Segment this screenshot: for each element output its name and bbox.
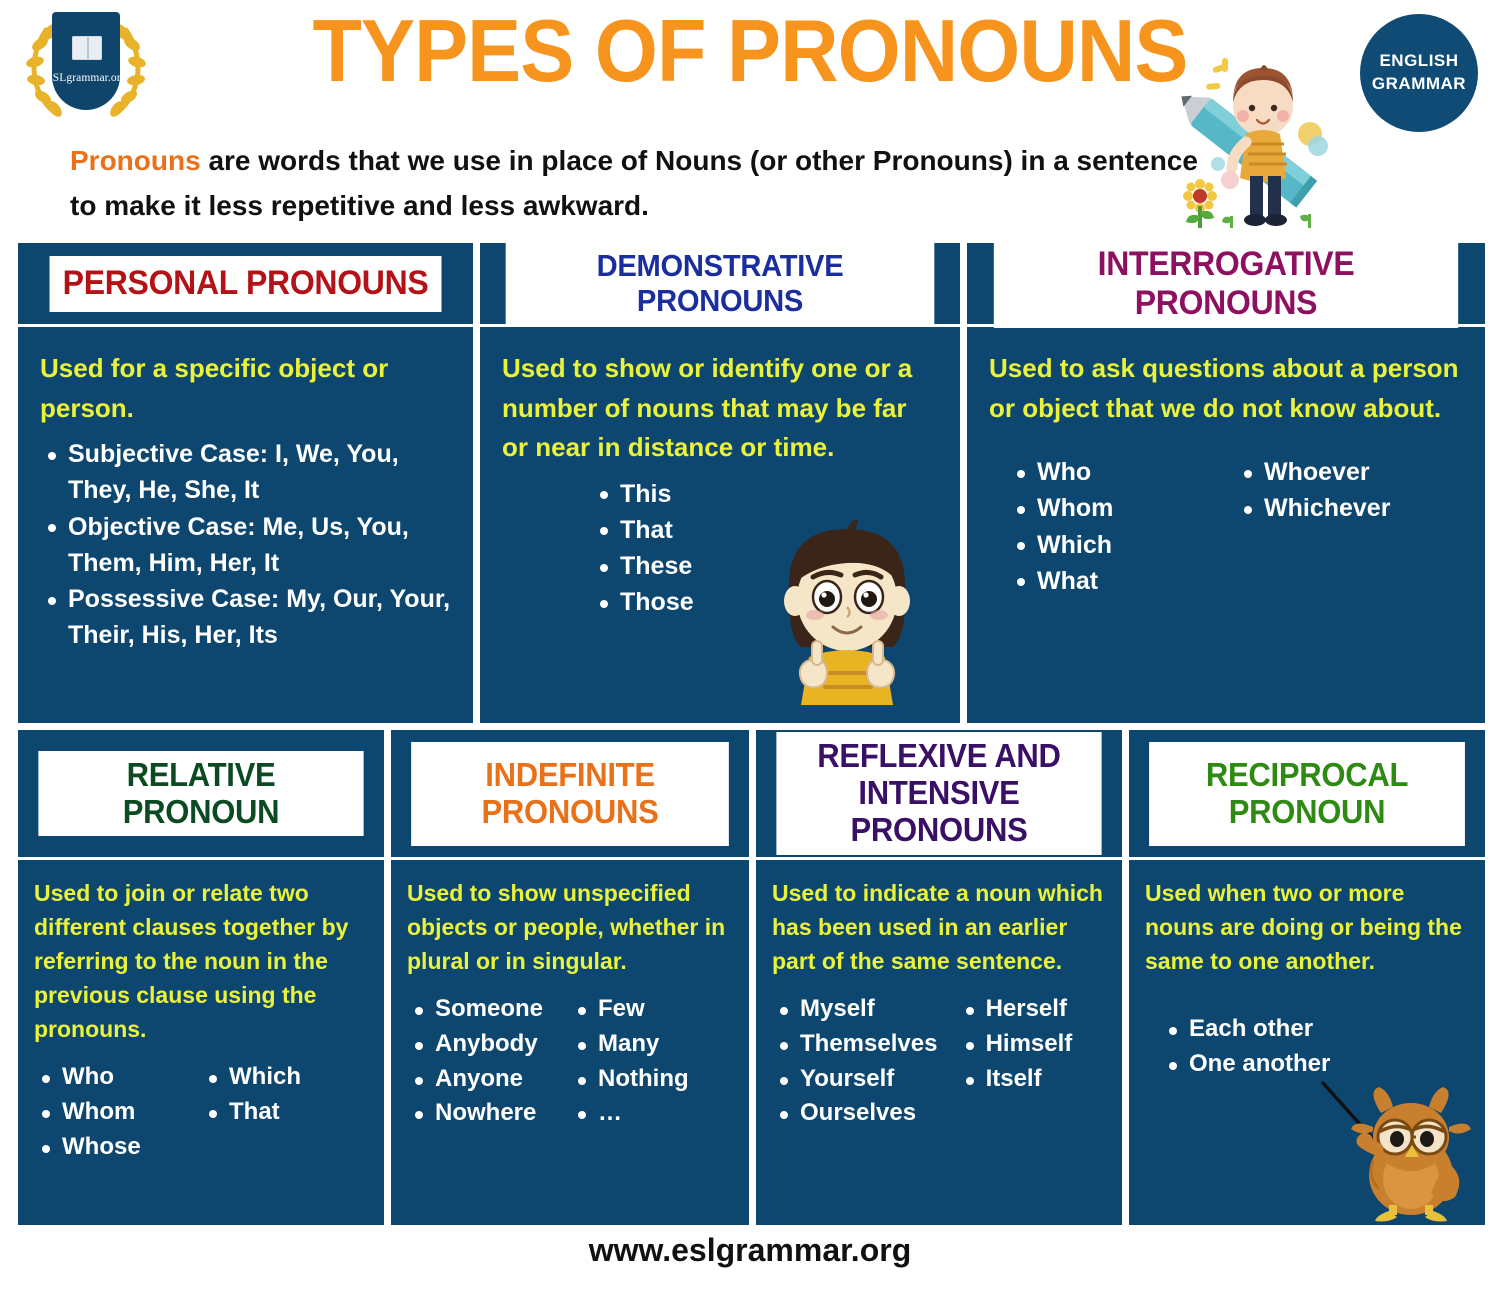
- card-reflexive-intensive-pronouns: REFLEXIVE AND INTENSIVE PRONOUNS Used to…: [756, 730, 1122, 1225]
- list-item: Themselves: [772, 1027, 958, 1062]
- card-description-reflexive: Used to indicate a noun which has been u…: [772, 876, 1106, 978]
- list-item: Whoever: [1236, 454, 1463, 490]
- card-title-relative: RELATIVE PRONOUN: [38, 751, 363, 837]
- card-description-demonstrative: Used to show or identify one or a number…: [502, 349, 938, 468]
- card-relative-pronoun: RELATIVE PRONOUN Used to join or relate …: [18, 730, 384, 1225]
- list-item: Which: [1009, 527, 1236, 563]
- card-demonstrative-pronouns: DEMONSTRATIVE PRONOUNS Used to show or i…: [480, 243, 960, 723]
- card-title-personal: PERSONAL PRONOUNS: [49, 256, 441, 312]
- header: ESLgrammar.org TYPES OF PRONOUNS: [0, 0, 1500, 240]
- list-item: Anybody: [407, 1027, 570, 1062]
- card-title-reciprocal: RECIPROCAL PRONOUN: [1149, 742, 1465, 846]
- list-item: Which: [201, 1060, 368, 1095]
- card-interrogative-pronouns: INTERROGATIVE PRONOUNS Used to ask quest…: [967, 243, 1485, 723]
- pronoun-columns-interrogative: Who Whom Which What Whoever Whichever: [989, 446, 1463, 599]
- list-item: That: [201, 1095, 368, 1130]
- footer-url: www.eslgrammar.org: [0, 1232, 1500, 1269]
- card-description-indefinite: Used to show unspecified objects or peop…: [407, 876, 733, 978]
- pronoun-list-reflexive-col1: Myself Themselves Yourself Ourselves: [772, 992, 958, 1131]
- card-indefinite-pronouns: INDEFINITE PRONOUNS Used to show unspeci…: [391, 730, 749, 1225]
- pronoun-list-interrogative-col1: Who Whom Which What: [1009, 454, 1236, 599]
- intro-highlight: Pronouns: [70, 145, 201, 176]
- list-item: Yourself: [772, 1062, 958, 1097]
- card-title-demonstrative: DEMONSTRATIVE PRONOUNS: [506, 243, 935, 324]
- infographic-page: ESLgrammar.org TYPES OF PRONOUNS: [0, 0, 1500, 1300]
- card-body-interrogative: Used to ask questions about a person or …: [967, 327, 1485, 723]
- badge-line-1: ENGLISH: [1379, 50, 1458, 73]
- list-item: Herself: [958, 992, 1106, 1027]
- card-header-reflexive: REFLEXIVE AND INTENSIVE PRONOUNS: [756, 730, 1122, 860]
- list-item: Ourselves: [772, 1096, 958, 1131]
- list-item: This: [592, 476, 938, 512]
- list-item: Whichever: [1236, 490, 1463, 526]
- card-title-indefinite: INDEFINITE PRONOUNS: [411, 742, 729, 846]
- badge-line-2: GRAMMAR: [1372, 73, 1466, 96]
- list-item: Whom: [34, 1095, 201, 1130]
- list-item: Whose: [34, 1130, 201, 1165]
- card-body-reciprocal: Used when two or more nouns are doing or…: [1129, 860, 1485, 1225]
- owl-teacher-icon: [1319, 1075, 1479, 1225]
- list-item: Whom: [1009, 490, 1236, 526]
- card-title-reflexive: REFLEXIVE AND INTENSIVE PRONOUNS: [776, 732, 1101, 855]
- list-item: Itself: [958, 1062, 1106, 1097]
- bottom-card-row: RELATIVE PRONOUN Used to join or relate …: [18, 730, 1485, 1225]
- list-item: Few: [570, 992, 733, 1027]
- list-item: Who: [1009, 454, 1236, 490]
- pronoun-columns-indefinite: Someone Anybody Anyone Nowhere Few Many …: [407, 984, 733, 1131]
- pronoun-list-indefinite-col2: Few Many Nothing …: [570, 992, 733, 1131]
- card-description-relative: Used to join or relate two different cla…: [34, 876, 368, 1046]
- card-header-interrogative: INTERROGATIVE PRONOUNS: [967, 243, 1485, 327]
- intro-rest: are words that we use in place of Nouns …: [70, 145, 1198, 221]
- list-item: Myself: [772, 992, 958, 1027]
- pronoun-list-reflexive-col2: Herself Himself Itself: [958, 992, 1106, 1131]
- list-item: Who: [34, 1060, 201, 1095]
- pronoun-list-relative-col1: Who Whom Whose: [34, 1060, 201, 1164]
- card-header-relative: RELATIVE PRONOUN: [18, 730, 384, 860]
- pronoun-list-personal: Subjective Case: I, We, You, They, He, S…: [40, 436, 451, 654]
- list-item: Each other: [1161, 1012, 1469, 1047]
- card-title-interrogative: INTERROGATIVE PRONOUNS: [994, 243, 1458, 328]
- list-item: Subjective Case: I, We, You, They, He, S…: [40, 436, 451, 509]
- pronoun-columns-reflexive: Myself Themselves Yourself Ourselves Her…: [772, 984, 1106, 1131]
- list-item: Many: [570, 1027, 733, 1062]
- card-header-reciprocal: RECIPROCAL PRONOUN: [1129, 730, 1485, 860]
- list-item: Possessive Case: My, Our, Your, Their, H…: [40, 581, 451, 654]
- card-description-personal: Used for a specific object or person.: [40, 349, 451, 428]
- pronoun-list-relative-col2: Which That: [201, 1060, 368, 1164]
- pronoun-columns-relative: Who Whom Whose Which That: [34, 1052, 368, 1164]
- card-description-interrogative: Used to ask questions about a person or …: [989, 349, 1463, 428]
- intro-paragraph: Pronouns are words that we use in place …: [70, 138, 1230, 229]
- card-header-indefinite: INDEFINITE PRONOUNS: [391, 730, 749, 860]
- list-item: …: [570, 1096, 733, 1131]
- list-item: What: [1009, 563, 1236, 599]
- card-reciprocal-pronoun: RECIPROCAL PRONOUN Used when two or more…: [1129, 730, 1485, 1225]
- pronoun-list-reciprocal: Each other One another: [1145, 1012, 1469, 1082]
- list-item: Someone: [407, 992, 570, 1027]
- card-description-reciprocal: Used when two or more nouns are doing or…: [1145, 876, 1469, 978]
- kid-pointing-icon: [755, 515, 940, 705]
- card-personal-pronouns: PERSONAL PRONOUNS Used for a specific ob…: [18, 243, 473, 723]
- pronoun-list-interrogative-col2: Whoever Whichever: [1236, 454, 1463, 599]
- card-body-indefinite: Used to show unspecified objects or peop…: [391, 860, 749, 1225]
- list-item: Nowhere: [407, 1096, 570, 1131]
- top-card-row: PERSONAL PRONOUNS Used for a specific ob…: [18, 243, 1485, 723]
- english-grammar-badge: ENGLISH GRAMMAR: [1360, 14, 1478, 132]
- card-body-relative: Used to join or relate two different cla…: [18, 860, 384, 1225]
- card-body-personal: Used for a specific object or person. Su…: [18, 327, 473, 723]
- card-header-personal: PERSONAL PRONOUNS: [18, 243, 473, 327]
- card-body-reflexive: Used to indicate a noun which has been u…: [756, 860, 1122, 1225]
- card-header-demonstrative: DEMONSTRATIVE PRONOUNS: [480, 243, 960, 327]
- list-item: Anyone: [407, 1062, 570, 1097]
- card-body-demonstrative: Used to show or identify one or a number…: [480, 327, 960, 723]
- list-item: Objective Case: Me, Us, You, Them, Him, …: [40, 509, 451, 582]
- pronoun-list-indefinite-col1: Someone Anybody Anyone Nowhere: [407, 992, 570, 1131]
- list-item: Himself: [958, 1027, 1106, 1062]
- list-item: Nothing: [570, 1062, 733, 1097]
